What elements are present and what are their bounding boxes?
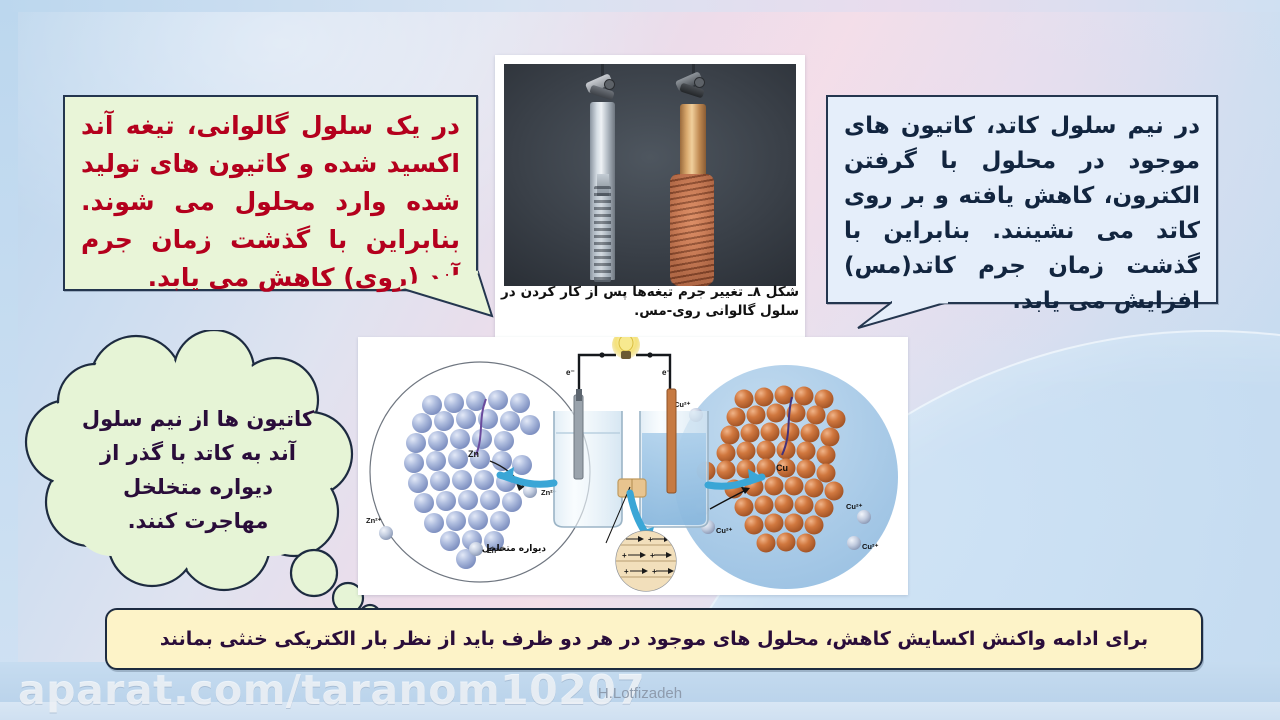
copper-ion-label: Cu²⁺ — [862, 542, 878, 551]
copper-electrode — [680, 104, 706, 184]
speech-bubble-anode: در یک سلول گالوانی، تیغه آند اکسید شده و… — [63, 95, 478, 291]
thought-bubble-migration: کاتیون ها از نیم سلول آند به کاتد با گذر… — [18, 330, 388, 620]
zinc-electrode-corrosion — [594, 186, 611, 282]
svg-text:+: + — [650, 551, 655, 560]
anode-beaker — [554, 411, 622, 527]
svg-text:+: + — [648, 535, 653, 544]
copper-atom-label: Cu — [776, 463, 788, 473]
thought-bubble-text: کاتیون ها از نیم سلول آند به کاتد با گذر… — [78, 402, 318, 538]
background-left-edge — [0, 0, 18, 688]
figure-caption: شکل ۸ـ تغییر جرم تیغه‌ها پس از کار کردن … — [501, 283, 799, 321]
svg-text:+: + — [624, 567, 629, 576]
background-bottom-band-inner — [0, 702, 1280, 720]
slide-canvas: در یک سلول گالوانی، تیغه آند اکسید شده و… — [0, 0, 1280, 720]
speech-bubble-cathode: در نیم سلول کاتد، کاتیون های موجود در مح… — [826, 95, 1218, 304]
galvanic-cell-diagram: Zn Zn²⁺ Zn²⁺ Zn²⁺ — [358, 337, 908, 595]
author-footer: H.Lotfizadeh — [0, 685, 1280, 702]
electron-label-right: e⁻ — [662, 368, 671, 377]
zinc-electrode-strip — [574, 395, 583, 479]
summary-banner: برای ادامه واکنش اکسایش کاهش، محلول های … — [105, 608, 1203, 670]
porous-wall-magnifier: ++ ++ ++ — [616, 531, 676, 591]
copper-ion-label: Cu²⁺ — [716, 526, 732, 535]
copper-electrode-deposit — [670, 174, 714, 286]
svg-text:+: + — [652, 567, 657, 576]
zinc-atom-label: Zn — [468, 449, 479, 459]
porous-wall-label: دیواره متخلخل — [482, 544, 547, 554]
zinc-ion-label: Zn²⁺ — [366, 516, 382, 525]
electron-label-left: e⁻ — [566, 368, 575, 377]
background-top-edge — [0, 0, 1280, 12]
electrode-photograph — [504, 64, 796, 286]
copper-electrode-strip — [667, 389, 676, 493]
svg-text:+: + — [622, 551, 627, 560]
galvanic-cell-diagram-panel: Zn Zn²⁺ Zn²⁺ Zn²⁺ — [358, 337, 908, 595]
copper-ion-label: Cu²⁺ — [846, 502, 862, 511]
